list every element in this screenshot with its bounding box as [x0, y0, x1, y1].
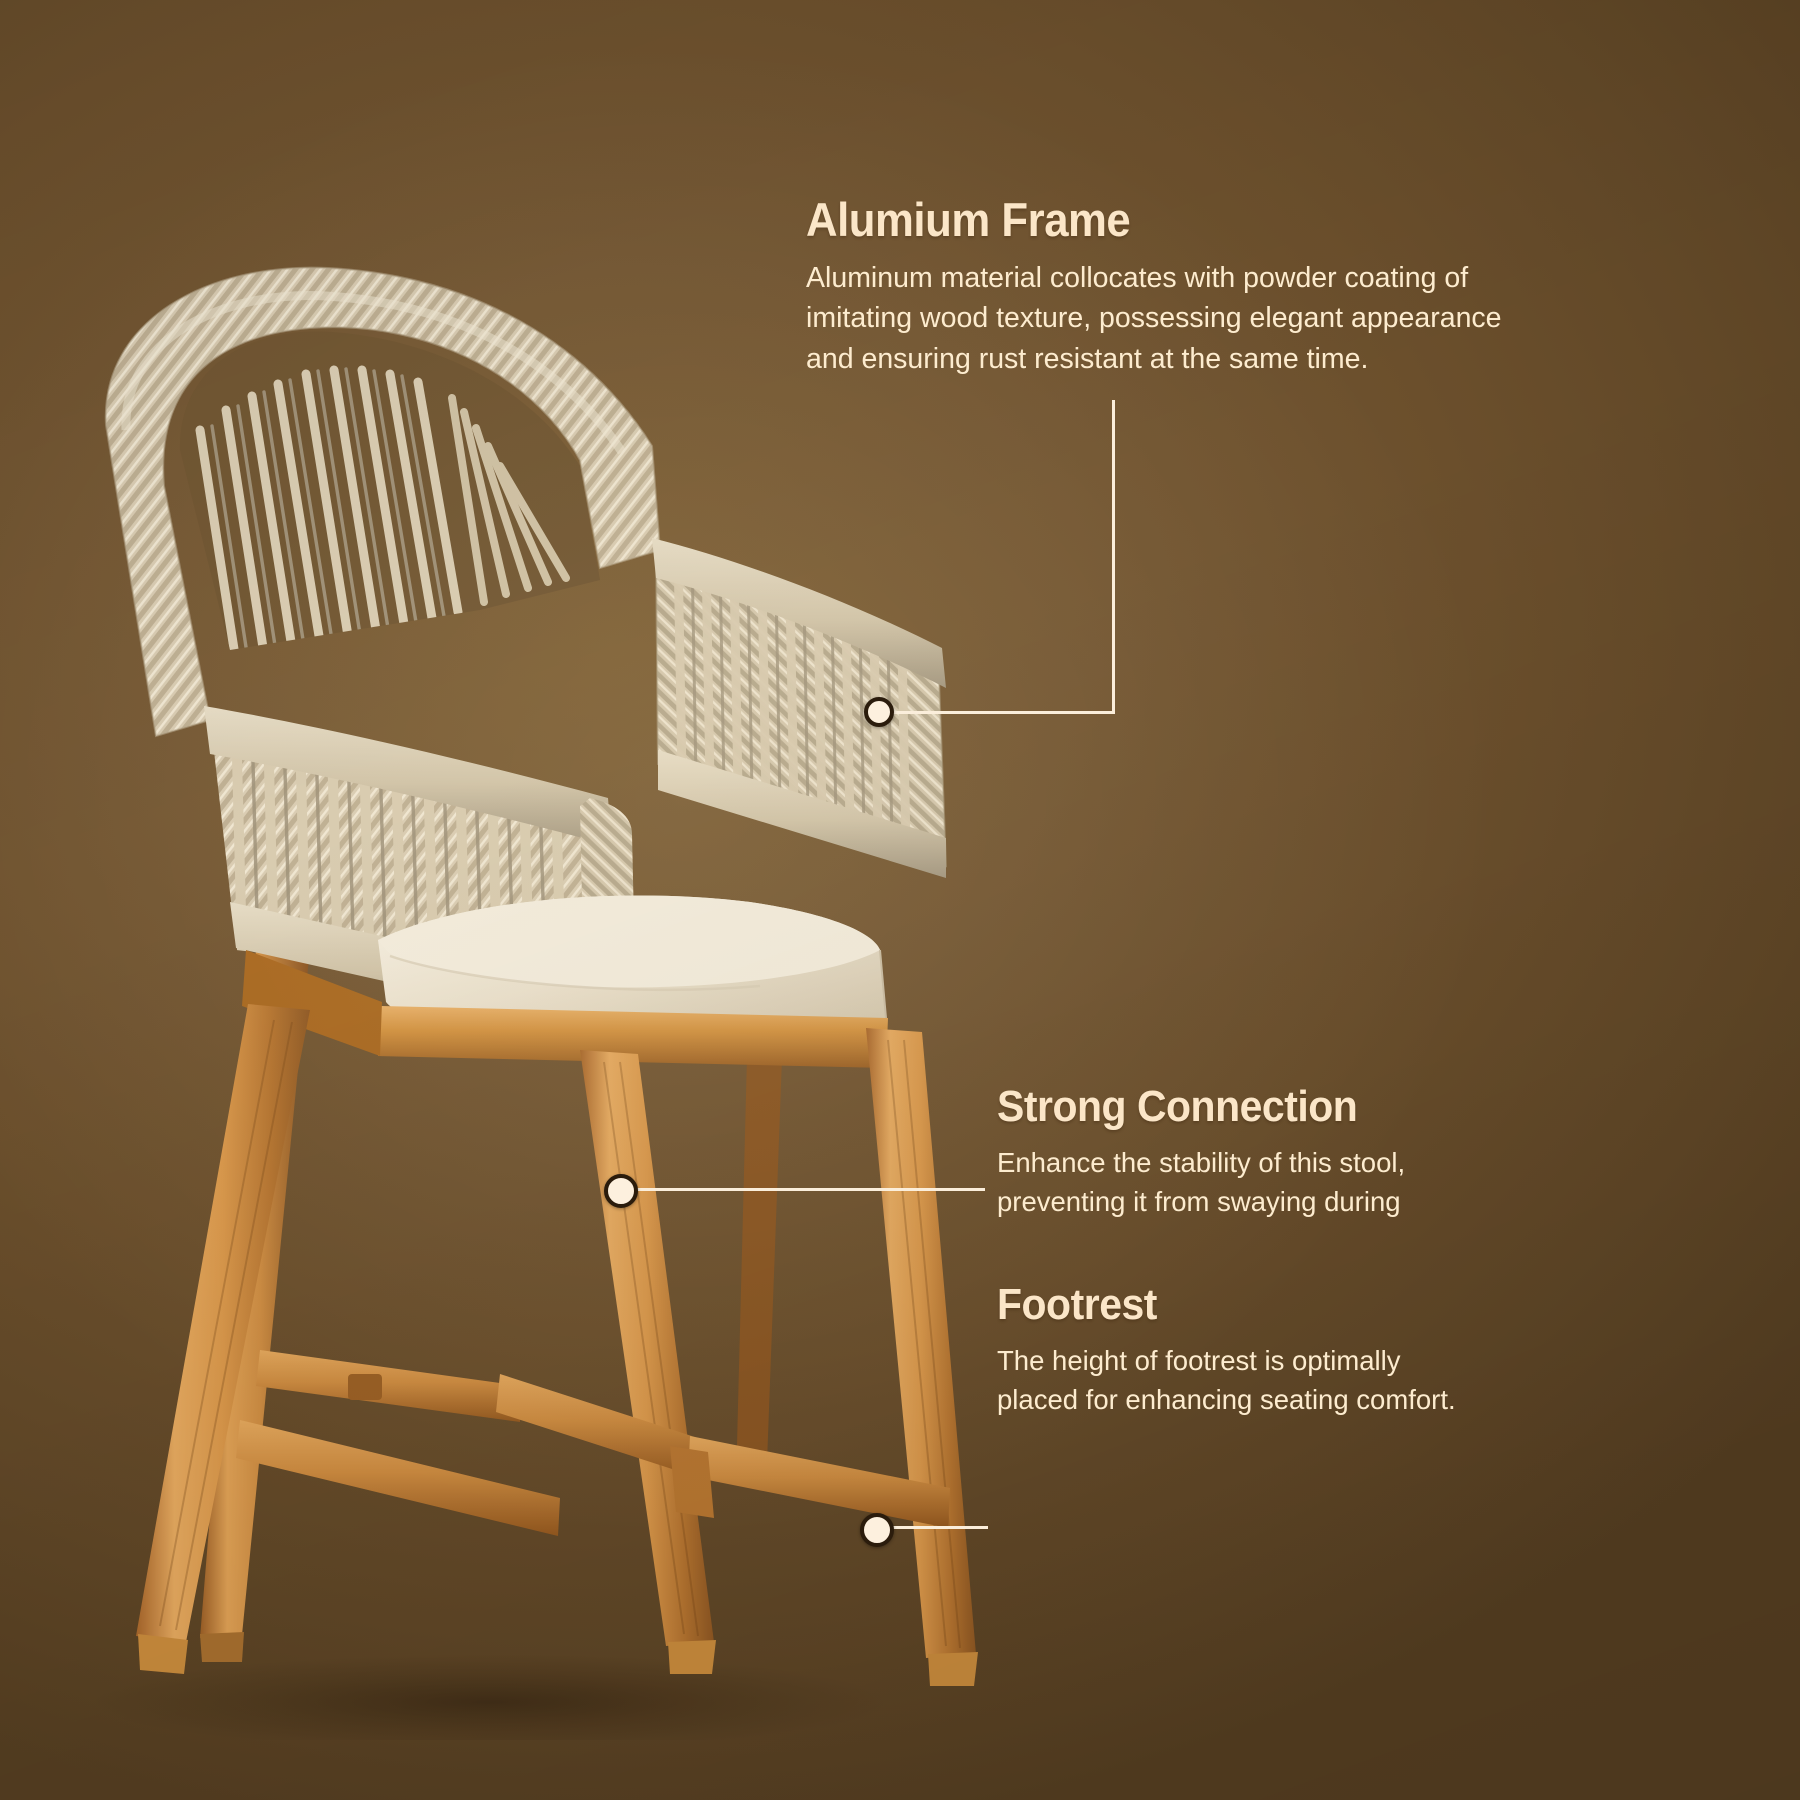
leg-front-center [580, 1050, 714, 1646]
callout-body-strong-connection: Enhance the stability of this stool, pre… [997, 1143, 1405, 1221]
callout-footrest: Footrest The height of footrest is optim… [997, 1283, 1456, 1419]
infographic-canvas: Alumium Frame Aluminum material collocat… [0, 0, 1800, 1800]
callout-title-strong-connection: Strong Connection [997, 1085, 1377, 1129]
marker-dot-connection [604, 1174, 638, 1208]
rope-arm-right [652, 538, 946, 878]
leader-line-frame-horizontal [880, 711, 1115, 714]
callout-body-line: and ensuring rust resistant at the same … [806, 339, 1502, 379]
connector-center [670, 1446, 714, 1518]
foot-cap-back-left [200, 1632, 244, 1662]
callout-title-aluminum-frame: Alumium Frame [806, 196, 1453, 243]
callout-body-line: Aluminum material collocates with powder… [806, 258, 1502, 298]
marker-dot-footrest [860, 1513, 894, 1547]
leader-line-frame-vertical [1112, 400, 1115, 714]
foot-cap-front-center [668, 1640, 716, 1674]
callout-body-line: imitating wood texture, possessing elega… [806, 298, 1502, 338]
leader-line-connection [630, 1188, 985, 1191]
callout-body-footrest: The height of footrest is optimally plac… [997, 1341, 1456, 1419]
callout-body-line: The height of footrest is optimally [997, 1341, 1456, 1380]
callout-body-line: Enhance the stability of this stool, [997, 1143, 1405, 1182]
stretcher-left-upper [256, 1350, 522, 1422]
foot-cap-front-right [928, 1652, 978, 1686]
callout-title-footrest: Footrest [997, 1283, 1424, 1327]
callout-body-aluminum-frame: Aluminum material collocates with powder… [806, 258, 1502, 379]
leader-line-footrest [884, 1526, 988, 1529]
foot-cap-front-left [138, 1634, 188, 1674]
callout-body-line: placed for enhancing seating comfort. [997, 1380, 1456, 1419]
callout-aluminum-frame: Alumium Frame Aluminum material collocat… [806, 196, 1502, 379]
callout-body-line: preventing it from swaying during [997, 1182, 1405, 1221]
stretcher-left-lower [236, 1420, 560, 1536]
callout-strong-connection: Strong Connection Enhance the stability … [997, 1085, 1405, 1221]
leg-front-right [866, 1028, 976, 1658]
marker-dot-frame [864, 697, 894, 727]
bracket-plate [348, 1374, 382, 1400]
